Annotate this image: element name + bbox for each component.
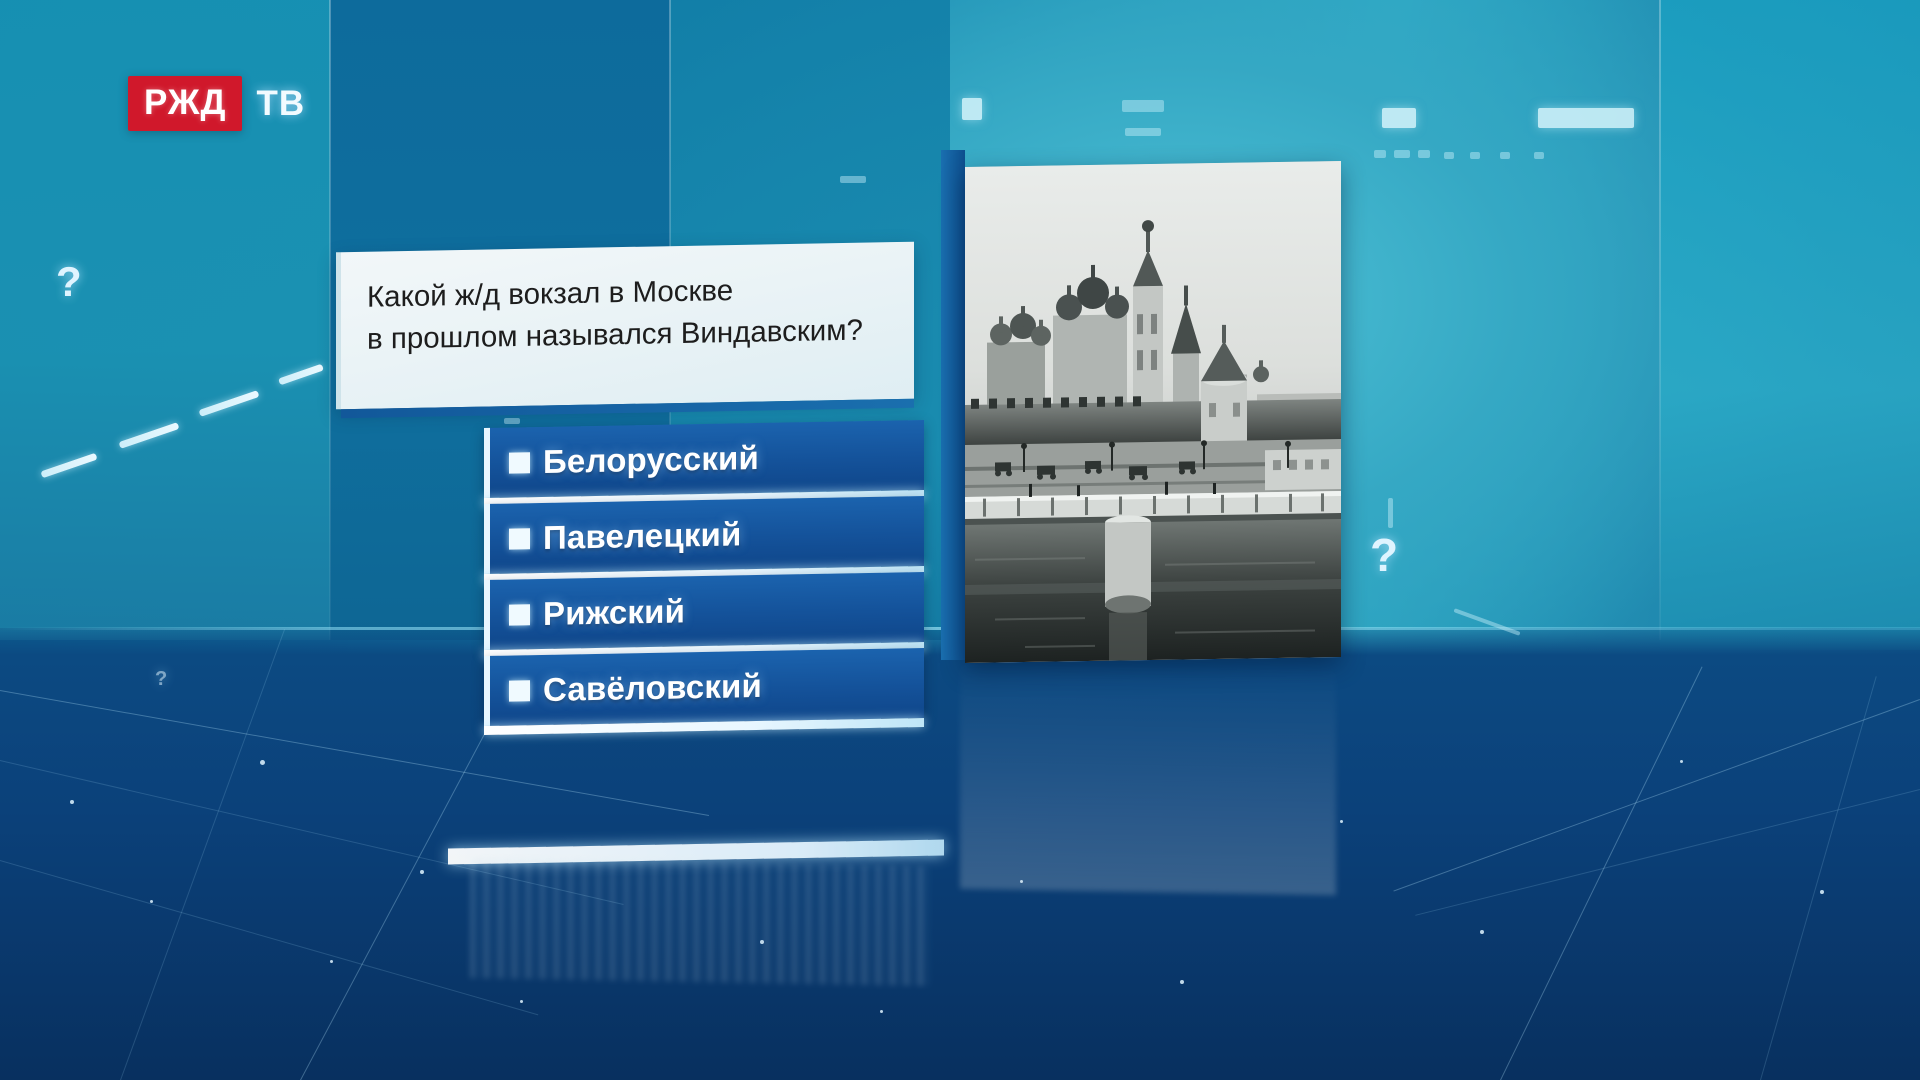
wall-panel-right xyxy=(1660,0,1920,650)
logo-text-rzd: РЖД xyxy=(144,83,226,122)
answer-options-list: Белорусский Павелецкий Рижский Савёловск… xyxy=(484,424,924,728)
question-card: Какой ж/д вокзал в Москве в прошлом назы… xyxy=(336,242,914,410)
floor-sparkle xyxy=(150,900,153,903)
deco-block xyxy=(1388,498,1393,528)
floor-sparkle xyxy=(70,800,74,804)
photo-panel-edge xyxy=(941,150,965,660)
answer-option-label: Рижский xyxy=(543,592,685,633)
floor-sparkle xyxy=(420,870,424,874)
deco-block xyxy=(962,98,982,120)
answer-option-label: Павелецкий xyxy=(543,515,742,557)
deco-block xyxy=(840,176,866,183)
floor-sparkle xyxy=(520,1000,523,1003)
broadcast-screen: ? ? ? РЖД ТВ Какой ж/д вокзал в Москве в… xyxy=(0,0,1920,1080)
logo-text-tv: ТВ xyxy=(256,86,305,121)
floor-sparkle xyxy=(260,760,265,765)
floor-sparkle xyxy=(1180,980,1184,984)
logo-red-box: РЖД xyxy=(128,76,242,131)
answers-reflection xyxy=(470,858,930,986)
wall-seam xyxy=(1659,0,1661,640)
question-text: Какой ж/д вокзал в Москве в прошлом назы… xyxy=(367,267,897,360)
deco-block xyxy=(1500,152,1510,159)
answer-option-4[interactable]: Савёловский xyxy=(484,648,924,726)
question-mark-icon: ? xyxy=(56,258,82,306)
square-bullet-icon xyxy=(509,604,530,625)
floor-sparkle xyxy=(1820,890,1824,894)
photo-reflection xyxy=(960,659,1336,896)
question-mark-icon: ? xyxy=(1370,528,1398,582)
floor-sparkle xyxy=(1480,930,1484,934)
answer-option-label: Савёловский xyxy=(543,667,762,709)
square-bullet-icon xyxy=(509,528,530,549)
answer-option-1[interactable]: Белорусский xyxy=(484,420,924,498)
deco-block xyxy=(1382,108,1416,128)
square-bullet-icon xyxy=(509,452,530,473)
floor-sparkle xyxy=(1680,760,1683,763)
square-bullet-icon xyxy=(509,680,530,701)
deco-block xyxy=(1374,150,1386,158)
answer-option-label: Белорусский xyxy=(543,439,759,481)
answer-option-2[interactable]: Павелецкий xyxy=(484,496,924,574)
floor-sparkle xyxy=(330,960,333,963)
question-line-2: в прошлом назывался Виндавским? xyxy=(367,309,897,361)
deco-block xyxy=(1418,150,1430,158)
deco-block xyxy=(1538,108,1634,128)
deco-block xyxy=(1534,152,1544,159)
deco-block xyxy=(1394,150,1410,158)
wall-seam xyxy=(329,0,331,640)
deco-block xyxy=(1444,152,1454,159)
deco-block xyxy=(1125,128,1161,136)
historical-photo xyxy=(965,161,1341,663)
answer-option-3[interactable]: Рижский xyxy=(484,572,924,650)
kremlin-photo-illustration xyxy=(965,161,1341,663)
floor-sparkle xyxy=(880,1010,883,1013)
deco-block xyxy=(1470,152,1480,159)
floor-sparkle xyxy=(1340,820,1343,823)
photo-panel xyxy=(941,150,1341,660)
deco-block xyxy=(1122,100,1164,112)
channel-logo: РЖД ТВ xyxy=(128,76,305,131)
question-mark-icon: ? xyxy=(155,668,167,691)
